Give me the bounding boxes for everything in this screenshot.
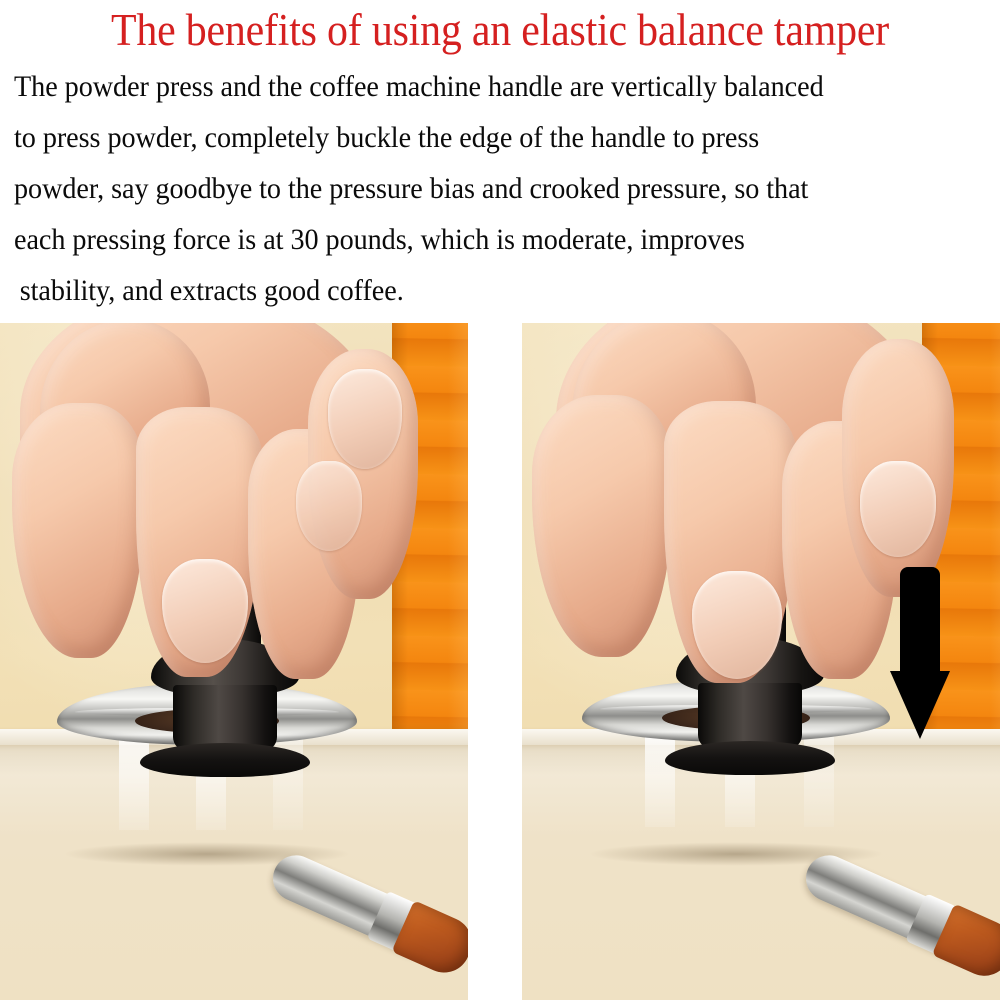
index-finger bbox=[12, 403, 144, 658]
body-line: stability, and extracts good coffee. bbox=[14, 266, 945, 317]
body-line: The powder press and the coffee machine … bbox=[14, 62, 945, 113]
body-line: powder, say goodbye to the pressure bias… bbox=[14, 164, 945, 215]
body-paragraph: The powder press and the coffee machine … bbox=[14, 62, 989, 317]
index-finger bbox=[532, 395, 672, 657]
photo-panel-row bbox=[0, 323, 1000, 1000]
tamper-base bbox=[665, 741, 835, 775]
page-title: The benefits of using an elastic balance… bbox=[35, 4, 965, 56]
body-line: to press powder, completely buckle the e… bbox=[14, 113, 945, 164]
portafilter-facet bbox=[645, 733, 675, 827]
body-line: each pressing force is at 30 pounds, whi… bbox=[14, 215, 945, 266]
hand bbox=[0, 323, 410, 731]
photo-right bbox=[522, 323, 1000, 1000]
tamper-base bbox=[140, 743, 310, 777]
portafilter-facet bbox=[119, 736, 149, 830]
text-block: The benefits of using an elastic balance… bbox=[0, 0, 1000, 323]
arrow-down-icon bbox=[890, 563, 950, 743]
ring-finger-nail bbox=[296, 461, 362, 551]
photo-left bbox=[0, 323, 468, 1000]
hand bbox=[522, 323, 946, 729]
